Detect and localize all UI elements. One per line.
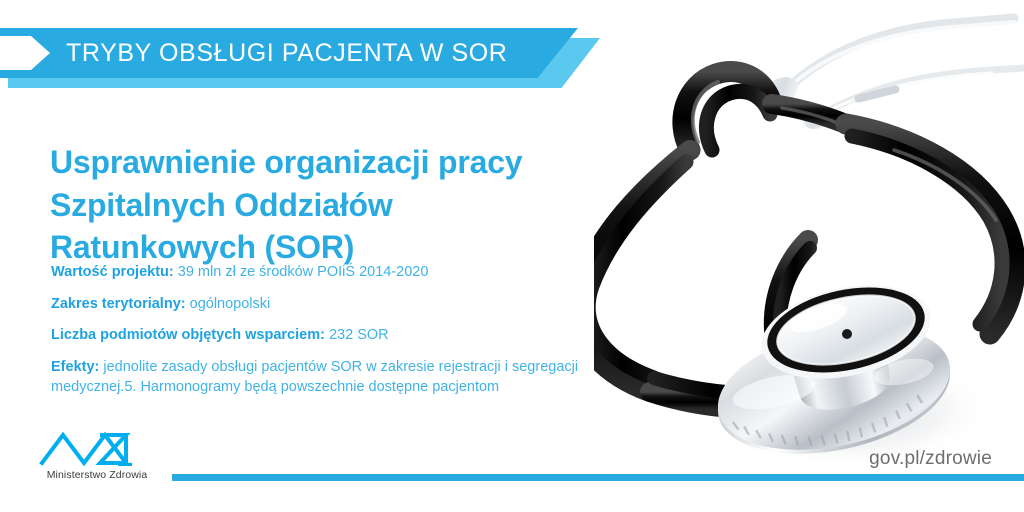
stethoscope-photo — [594, 0, 1024, 500]
header-banner: TRYBY OBSŁUGI PACJENTA W SOR — [0, 28, 620, 90]
fact-label: Efekty: — [51, 359, 99, 375]
page-title-line-1: Usprawnienie organizacji pracy — [50, 141, 610, 183]
poster-canvas: TRYBY OBSŁUGI PACJENTA W SOR Usprawnieni… — [0, 0, 1024, 512]
project-facts-list: Wartość projektu: 39 mln zł ze środków P… — [51, 262, 661, 398]
fact-item-scope: Zakres terytorialny: ogólnopolski — [51, 294, 661, 315]
fact-value: 232 SOR — [329, 327, 389, 343]
fact-item-value: Wartość projektu: 39 mln zł ze środków P… — [51, 262, 661, 283]
ministry-logo-caption: Ministerstwo Zdrowia — [38, 469, 156, 481]
fact-label: Zakres terytorialny: — [51, 296, 186, 312]
site-url[interactable]: gov.pl/zdrowie — [869, 448, 992, 470]
page-title-line-2: Szpitalnych Oddziałów — [50, 184, 610, 226]
ministry-logo: Ministerstwo Zdrowia — [38, 430, 168, 481]
fact-value: ogólnopolski — [190, 296, 271, 312]
fact-label: Liczba podmiotów objętych wsparciem: — [51, 327, 325, 343]
fact-value: 39 mln zł ze środków POIiŚ 2014-2020 — [178, 264, 429, 280]
mz-logo-icon — [38, 430, 156, 466]
page-title: Usprawnienie organizacji pracy Szpitalny… — [50, 141, 610, 268]
fact-item-effects: Efekty: jednolite zasady obsługi pacjent… — [51, 357, 661, 398]
fact-label: Wartość projektu: — [51, 264, 174, 280]
fact-item-entities: Liczba podmiotów objętych wsparciem: 232… — [51, 325, 661, 346]
fact-value: jednolite zasady obsługi pacjentów SOR w… — [51, 359, 578, 396]
banner-title: TRYBY OBSŁUGI PACJENTA W SOR — [66, 28, 507, 78]
footer-divider — [172, 474, 1024, 481]
